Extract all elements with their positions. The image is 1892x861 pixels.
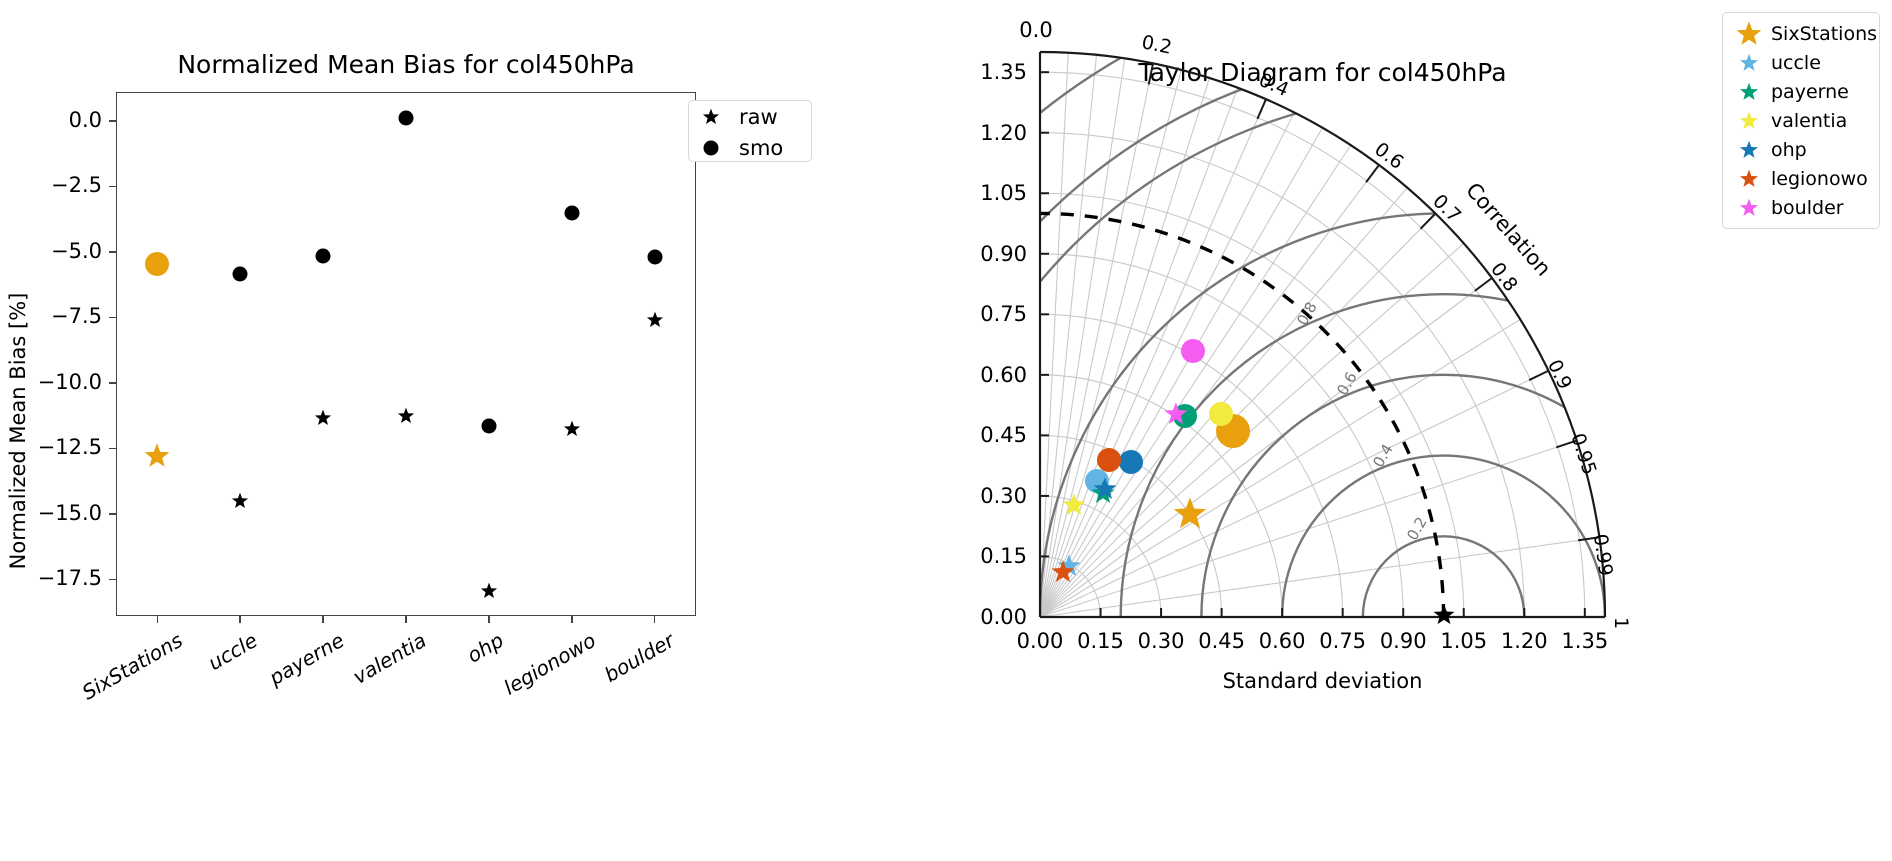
nmb-point-boulder-raw (646, 311, 663, 328)
x-axis-label: Standard deviation (1223, 669, 1423, 693)
x-tick-label-sixstations: SixStations (78, 628, 187, 705)
y-tick-label: −10.0 (38, 370, 102, 394)
taylor-point-legionowo-raw (1051, 560, 1075, 584)
station-legend-item-legionowo[interactable]: legionowo (1723, 164, 1879, 193)
y-axis-label: Normalized Mean Bias [%] (6, 292, 30, 569)
station-legend-label: uccle (1771, 52, 1821, 74)
nmb-point-valentia-smo (399, 111, 414, 126)
station-legend-label: ohp (1771, 139, 1807, 161)
taylor-x-tick-label: 1.20 (1501, 629, 1548, 653)
taylor-point-ohp-raw (1093, 477, 1117, 501)
taylor-y-tick-label: 0.60 (980, 363, 1027, 387)
taylor-y-tick-label: 0.00 (980, 605, 1027, 629)
y-tick-mark (109, 186, 116, 188)
station-legend-item-ohp[interactable]: ohp (1723, 135, 1879, 164)
taylor-point-valentia-raw (1062, 493, 1086, 517)
y-tick-mark (109, 251, 116, 253)
nmb-plot-area (116, 92, 696, 616)
y-tick-label: −2.5 (51, 173, 102, 197)
taylor-corr-tick-0: 0.0 (1019, 18, 1052, 42)
y-tick-mark (109, 120, 116, 122)
station-legend-label: SixStations (1771, 23, 1877, 45)
taylor-y-tick-label: 0.45 (980, 423, 1027, 447)
star-marker-icon (1740, 111, 1759, 130)
x-tick-mark (322, 616, 324, 623)
x-tick-label-boulder: boulder (601, 628, 679, 687)
x-tick-label-uccle: uccle (204, 628, 261, 675)
nmb-point-valentia-raw (398, 407, 415, 424)
taylor-x-tick-label: 0.00 (1017, 629, 1064, 653)
x-tick-mark (157, 616, 159, 623)
y-tick-label: −7.5 (51, 304, 102, 328)
nmb-point-ohp-raw (480, 583, 497, 600)
y-tick-label: −5.0 (51, 239, 102, 263)
nmb-point-boulder-smo (647, 250, 662, 265)
taylor-x-tick-label: 0.15 (1077, 629, 1124, 653)
nmb-point-payerne-smo (316, 248, 331, 263)
station-legend-item-payerne[interactable]: payerne (1723, 77, 1879, 106)
taylor-x-tick-label: 1.05 (1440, 629, 1487, 653)
taylor-point-ohp-smo (1119, 450, 1143, 474)
nmb-point-uccle-raw (232, 492, 249, 509)
nmb-point-uccle-smo (233, 267, 248, 282)
station-legend-item-boulder[interactable]: boulder (1723, 193, 1879, 222)
station-legend-label: valentia (1771, 110, 1847, 132)
taylor-point-valentia-smo (1209, 402, 1233, 426)
legend-label: smo (739, 136, 783, 160)
station-legend-label: boulder (1771, 197, 1844, 219)
y-tick-label: −15.0 (38, 501, 102, 525)
station-legend-item-valentia[interactable]: valentia (1723, 106, 1879, 135)
taylor-x-tick-label: 0.30 (1138, 629, 1185, 653)
x-tick-mark (405, 616, 407, 623)
taylor-corr-tick-label: 1 (1610, 617, 1632, 629)
y-tick-label: −12.5 (38, 435, 102, 459)
normalized-mean-bias-panel: Normalized Mean Bias for col450hPa Norma… (0, 0, 760, 861)
y-tick-mark (109, 382, 116, 384)
y-tick-label: −17.5 (38, 566, 102, 590)
star-marker-icon (703, 108, 720, 125)
y-tick-mark (109, 513, 116, 515)
star-marker-icon (1740, 169, 1759, 188)
nmb-point-payerne-raw (315, 410, 332, 427)
star-marker-icon (1736, 21, 1762, 47)
star-marker-icon (1740, 53, 1759, 72)
x-tick-mark (488, 616, 490, 623)
nmb-point-sixstations-smo (145, 252, 169, 276)
taylor-point-legionowo-smo (1097, 448, 1121, 472)
star-marker-icon (1740, 198, 1759, 217)
station-legend-item-sixstations[interactable]: SixStations (1723, 19, 1879, 48)
x-tick-mark (571, 616, 573, 623)
station-legend-item-uccle[interactable]: uccle (1723, 48, 1879, 77)
y-tick-mark (109, 448, 116, 450)
y-tick-label: 0.0 (69, 108, 102, 132)
nmb-point-ohp-smo (481, 419, 496, 434)
x-tick-label-ohp: ohp (463, 628, 508, 668)
figure-canvas: Normalized Mean Bias for col450hPa Norma… (0, 0, 1892, 861)
taylor-y-tick-label: 1.05 (980, 181, 1027, 205)
nmb-point-legionowo-raw (563, 420, 580, 437)
series-legend[interactable]: rawsmo (688, 100, 812, 162)
taylor-x-tick-label: 0.60 (1259, 629, 1306, 653)
y-tick-mark (109, 579, 116, 581)
x-tick-mark (654, 616, 656, 623)
taylor-diagram-panel: Taylor Diagram for col450hPa Standard de… (940, 0, 1700, 861)
star-marker-icon (1740, 140, 1759, 159)
nmb-point-legionowo-smo (564, 205, 579, 220)
taylor-point-sixstations-raw (1173, 497, 1207, 531)
taylor-y-tick-label: 0.15 (980, 544, 1027, 568)
taylor-x-tick-label: 1.35 (1561, 629, 1608, 653)
taylor-y-tick-label: 0.90 (980, 242, 1027, 266)
legend-item-smo[interactable]: smo (689, 132, 811, 163)
legend-label: raw (739, 105, 778, 129)
taylor-x-tick-label: 0.90 (1380, 629, 1427, 653)
circle-marker-icon (704, 140, 719, 155)
station-legend-label: legionowo (1771, 168, 1868, 190)
page-title: Normalized Mean Bias for col450hPa (177, 50, 634, 79)
taylor-x-tick-label: 0.75 (1319, 629, 1366, 653)
station-legend[interactable]: SixStationsucclepayernevalentiaohplegion… (1722, 12, 1880, 229)
taylor-y-tick-label: 0.75 (980, 302, 1027, 326)
taylor-reference-point (1433, 604, 1455, 626)
x-tick-mark (239, 616, 241, 623)
taylor-point-boulder-raw (1164, 402, 1188, 426)
y-tick-mark (109, 317, 116, 319)
taylor-y-tick-label: 1.20 (980, 121, 1027, 145)
star-marker-icon (1740, 82, 1759, 101)
x-tick-label-payerne: payerne (265, 628, 348, 690)
taylor-y-tick-label: 0.30 (980, 484, 1027, 508)
nmb-point-sixstations-raw (144, 443, 170, 469)
station-legend-label: payerne (1771, 81, 1849, 103)
taylor-point-boulder-smo (1181, 339, 1205, 363)
taylor-x-tick-label: 0.45 (1198, 629, 1245, 653)
x-tick-label-valentia: valentia (349, 628, 431, 689)
x-tick-label-legionowo: legionowo (499, 628, 599, 700)
legend-item-raw[interactable]: raw (689, 101, 811, 132)
taylor-y-tick-label: 1.35 (980, 60, 1027, 84)
